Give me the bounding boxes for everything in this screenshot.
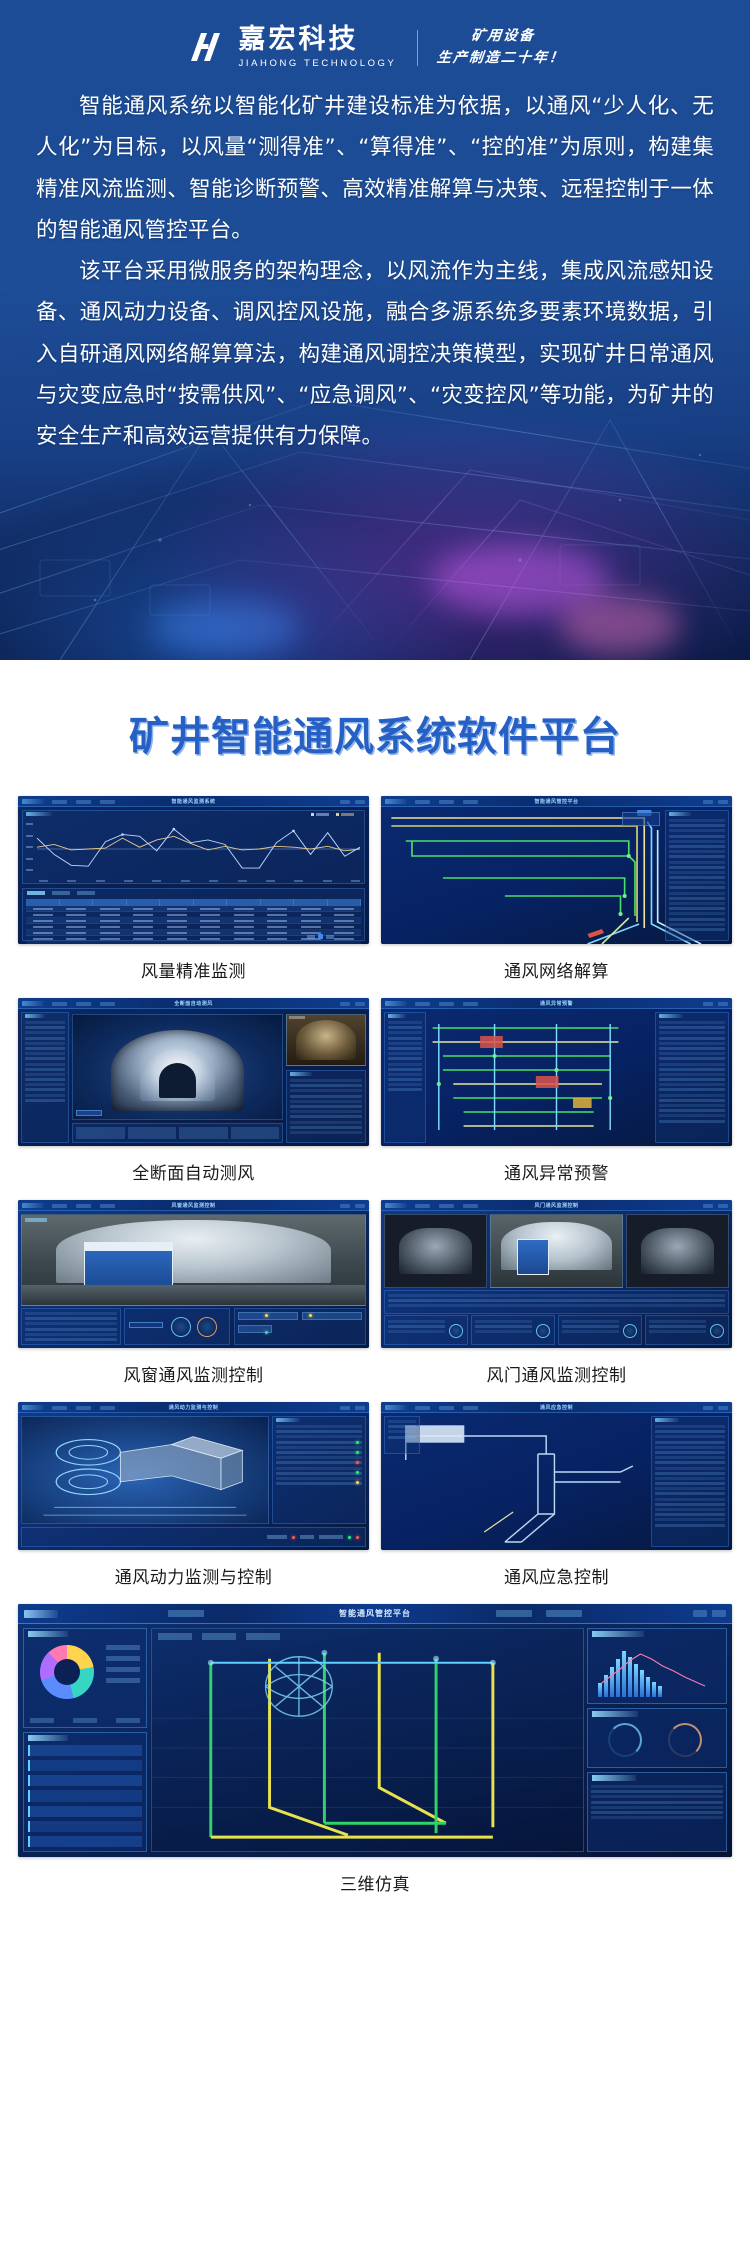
mine-3d-network [152, 1629, 583, 1851]
screenshot-gallery: 智能通风监测系统 [0, 796, 750, 1911]
brand-text-block: 嘉宏科技 JIAHONG TECHNOLOGY [238, 26, 396, 69]
hero-paragraph-2: 该平台采用微服务的架构理念，以风流作为主线，集成风流感知设备、通风动力设备、调风… [36, 251, 714, 457]
gallery-caption: 通风网络解算 [504, 944, 609, 998]
hero-description: 智能通风系统以智能化矿井建设标准为依据，以通风“少人化、无人化”为目标，以风量“… [36, 86, 714, 457]
brand-slogan: 矿用设备 生产制造二十年！ [435, 26, 568, 69]
gallery-item-abnormal-alarm[interactable]: 通风异常预警 [381, 998, 732, 1200]
gallery-caption: 风量精准监测 [141, 944, 246, 998]
brand-header: 嘉宏科技 JIAHONG TECHNOLOGY 矿用设备 生产制造二十年！ [0, 26, 750, 69]
platform-title: 智能通风管控平台 [339, 1608, 411, 1619]
hero-glow-purple [430, 545, 610, 615]
hero-glow-blue [150, 600, 300, 655]
screenshot-air-door-control[interactable]: 风门通风监测控制 [381, 1200, 732, 1348]
brand-divider [417, 30, 418, 66]
screenshot-air-window-control[interactable]: 风窗通风监测控制 [18, 1200, 369, 1348]
gallery-caption: 风窗通风监测控制 [124, 1348, 264, 1402]
gallery-item-air-door-control[interactable]: 风门通风监测控制 [381, 1200, 732, 1402]
screenshot-airflow-monitor[interactable]: 智能通风监测系统 [18, 796, 369, 944]
jiahong-logo-icon [184, 28, 224, 68]
brand-slogan-line2: 生产制造二十年！ [435, 48, 565, 70]
gallery-caption: 通风异常预警 [504, 1146, 609, 1200]
brand-name-cn: 嘉宏科技 [238, 26, 396, 53]
brand-name-en: JIAHONG TECHNOLOGY [238, 58, 396, 69]
page-title: 矿井智能通风系统软件平台 [0, 660, 750, 796]
brand-slogan-line1: 矿用设备 [438, 26, 568, 48]
hero-glow-pink [560, 595, 680, 655]
gallery-item-full-section-measure[interactable]: 全断面自动测风 [18, 998, 369, 1200]
screenshot-emergency-control[interactable]: 通风应急控制 [381, 1402, 732, 1550]
hero-paragraph-1: 智能通风系统以智能化矿井建设标准为依据，以通风“少人化、无人化”为目标，以风量“… [36, 86, 714, 251]
gallery-caption: 通风动力监测与控制 [115, 1550, 273, 1604]
gallery-caption: 通风应急控制 [504, 1550, 609, 1604]
screenshot-fan-power-control[interactable]: 通风动力监测与控制 [18, 1402, 369, 1550]
platform-section: 矿井智能通风系统软件平台 智能通风监测系统 [0, 660, 750, 1919]
hero-section: 嘉宏科技 JIAHONG TECHNOLOGY 矿用设备 生产制造二十年！ 智能… [0, 0, 750, 660]
gallery-item-network-solver[interactable]: 智能通风管控平台 [381, 796, 732, 998]
gallery-caption: 三维仿真 [340, 1857, 410, 1911]
gallery-item-fan-power-control[interactable]: 通风动力监测与控制 [18, 1402, 369, 1604]
gallery-item-airflow-monitor[interactable]: 智能通风监测系统 [18, 796, 369, 998]
screenshot-abnormal-alarm[interactable]: 通风异常预警 [381, 998, 732, 1146]
screenshot-network-solver[interactable]: 智能通风管控平台 [381, 796, 732, 944]
gallery-item-emergency-control[interactable]: 通风应急控制 [381, 1402, 732, 1604]
gallery-caption: 风门通风监测控制 [487, 1348, 627, 1402]
screenshot-full-section-measure[interactable]: 全断面自动测风 [18, 998, 369, 1146]
screenshot-3d-simulation[interactable]: 智能通风管控平台 [18, 1604, 732, 1857]
gallery-item-3d-simulation[interactable]: 智能通风管控平台 [18, 1604, 732, 1911]
gallery-caption: 全断面自动测风 [132, 1146, 255, 1200]
gallery-item-air-window-control[interactable]: 风窗通风监测控制 [18, 1200, 369, 1402]
